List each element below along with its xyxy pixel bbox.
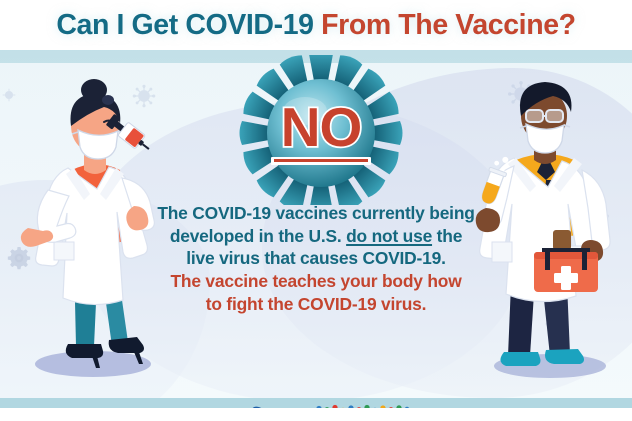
rhcp-people-icon	[314, 404, 414, 408]
body-line-2-part-b: the	[432, 226, 462, 246]
body-line-1: The COVID-19 vaccines currently being	[96, 202, 536, 225]
poster-title-bar: Can I Get COVID-19 From The Vaccine?	[0, 0, 632, 50]
title-part-red: From The Vaccine?	[314, 9, 576, 41]
first-aid-kit-icon	[528, 228, 604, 296]
rhcp-logo[interactable]: RHCP rochesterhealthy.org	[314, 404, 414, 408]
body-line-2-underlined: do not use	[346, 226, 432, 246]
poster-canvas: NO The COVID-19 vaccines currently being…	[0, 50, 632, 408]
body-line-4: The vaccine teaches your body how	[96, 270, 536, 293]
answer-badge: NO	[236, 55, 406, 205]
body-line-3: live virus that causes COVID-19.	[96, 247, 536, 270]
body-line-5: to fight the COVID-19 virus.	[96, 293, 536, 316]
body-text-block: The COVID-19 vaccines currently being de…	[96, 202, 536, 315]
page-title: Can I Get COVID-19 From The Vaccine?	[56, 9, 575, 42]
answer-text: NO	[281, 100, 362, 155]
infographic-poster: Can I Get COVID-19 From The Vaccine?	[0, 0, 632, 421]
body-line-2: developed in the U.S. do not use the	[96, 225, 536, 248]
title-part-teal: Can I Get COVID-19	[56, 9, 313, 41]
answer-underline	[271, 157, 371, 165]
syringe-icon	[100, 106, 156, 158]
like-share-badge[interactable]: LIKE & SHARE	[224, 406, 308, 408]
body-line-2-part-a: developed in the U.S.	[170, 226, 346, 246]
